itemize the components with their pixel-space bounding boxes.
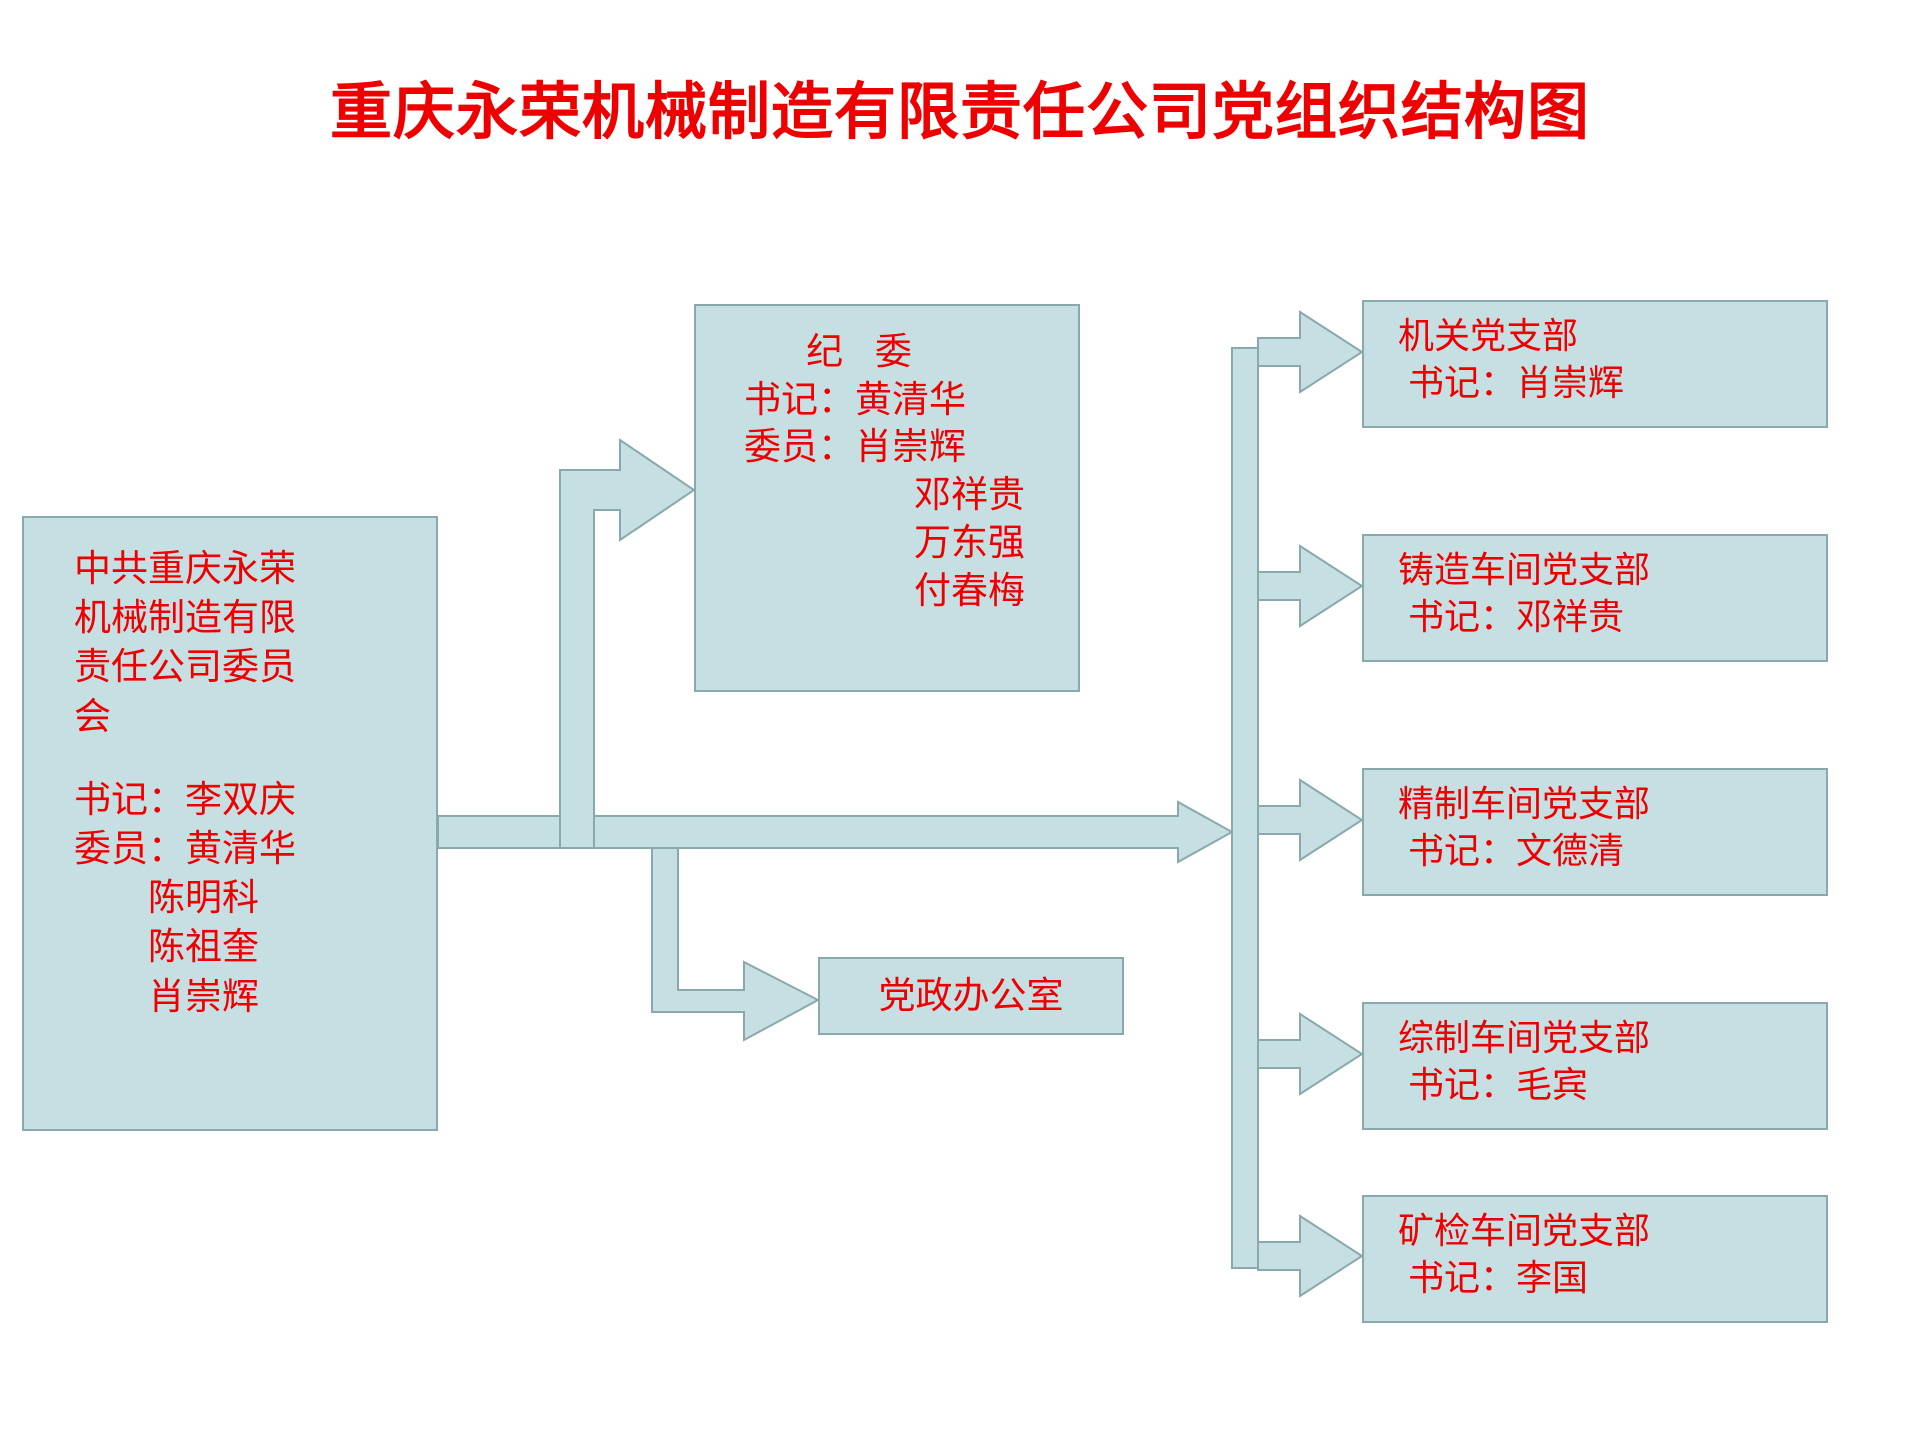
branch-3-name: 综制车间党支部 (1398, 1016, 1826, 1063)
branch-2-name: 精制车间党支部 (1398, 782, 1826, 829)
branch-2-secretary-row: 书记：文德清 (1398, 829, 1826, 876)
discipline-member-3: 付春梅 (696, 567, 1078, 615)
connector-branch-arrow-0 (1258, 312, 1362, 392)
root-spacer (74, 741, 436, 775)
office-label: 党政办公室 (879, 972, 1064, 1019)
node-party-committee[interactable]: 中共重庆永荣 机械制造有限 责任公司委员 会 书记：李双庆 委员：黄清华 陈明科… (22, 516, 438, 1131)
root-member-3: 肖崇辉 (74, 972, 436, 1021)
branch-4-secretary-row: 书记：李国 (1398, 1256, 1826, 1303)
discipline-members-row: 委员：肖崇辉 (696, 423, 1078, 471)
root-secretary-label: 书记： (74, 778, 185, 821)
node-branch-foundry[interactable]: 铸造车间党支部 书记：邓祥贵 (1362, 534, 1828, 662)
node-branch-agency[interactable]: 机关党支部 书记：肖崇辉 (1362, 300, 1828, 428)
discipline-members-label: 委员： (744, 425, 855, 468)
discipline-member-2: 万东强 (696, 519, 1078, 567)
connector-branch-arrow-4 (1258, 1216, 1362, 1296)
node-branch-comprehensive[interactable]: 综制车间党支部 书记：毛宾 (1362, 1002, 1828, 1130)
connector-root-to-trunk (438, 802, 1232, 862)
branch-1-name: 铸造车间党支部 (1398, 548, 1826, 595)
branch-3-secretary-row: 书记：毛宾 (1398, 1063, 1826, 1110)
root-name-line-2: 机械制造有限 (74, 593, 436, 642)
connector-branch-arrow-2 (1258, 780, 1362, 860)
branch-1-secretary-label: 书记： (1408, 597, 1516, 638)
root-member-0: 黄清华 (185, 827, 296, 870)
discipline-secretary-name: 黄清华 (855, 378, 966, 421)
branch-4-secretary-name: 李国 (1516, 1258, 1588, 1299)
connector-branch-arrow-3 (1258, 1014, 1362, 1094)
node-party-government-office[interactable]: 党政办公室 (818, 957, 1124, 1035)
discipline-secretary-label: 书记： (744, 378, 855, 421)
node-branch-ore-inspection[interactable]: 矿检车间党支部 书记：李国 (1362, 1195, 1828, 1323)
branch-4-name: 矿检车间党支部 (1398, 1209, 1826, 1256)
node-branch-refining[interactable]: 精制车间党支部 书记：文德清 (1362, 768, 1828, 896)
connector-root-to-discipline (560, 440, 694, 848)
root-member-2: 陈祖奎 (74, 922, 436, 971)
branch-0-secretary-name: 肖崇辉 (1516, 363, 1624, 404)
branch-0-name: 机关党支部 (1398, 314, 1826, 361)
branch-3-secretary-label: 书记： (1408, 1065, 1516, 1106)
root-secretary-name: 李双庆 (185, 778, 296, 821)
branch-1-secretary-row: 书记：邓祥贵 (1398, 595, 1826, 642)
root-member-1: 陈明科 (74, 873, 436, 922)
root-members-row: 委员：黄清华 (74, 824, 436, 873)
discipline-heading: 纪 委 (696, 328, 1078, 376)
branch-1-secretary-name: 邓祥贵 (1516, 597, 1624, 638)
root-secretary-row: 书记：李双庆 (74, 775, 436, 824)
node-discipline-commission[interactable]: 纪 委 书记：黄清华 委员：肖崇辉 邓祥贵 万东强 付春梅 (694, 304, 1080, 692)
discipline-member-1: 邓祥贵 (696, 471, 1078, 519)
branch-0-secretary-label: 书记： (1408, 363, 1516, 404)
discipline-secretary-row: 书记：黄清华 (696, 376, 1078, 424)
connector-branch-arrow-1 (1258, 546, 1362, 626)
root-name-line-4: 会 (74, 692, 436, 741)
connector-branch-riser (1232, 348, 1258, 1268)
connector-root-to-office (652, 848, 818, 1040)
branch-0-secretary-row: 书记：肖崇辉 (1398, 361, 1826, 408)
branch-4-secretary-label: 书记： (1408, 1258, 1516, 1299)
branch-2-secretary-label: 书记： (1408, 831, 1516, 872)
branch-2-secretary-name: 文德清 (1516, 831, 1624, 872)
root-members-label: 委员： (74, 827, 185, 870)
discipline-member-0: 肖崇辉 (855, 425, 966, 468)
root-name-line-1: 中共重庆永荣 (74, 544, 436, 593)
org-chart-canvas: 重庆永荣机械制造有限责任公司党组织结构图 (0, 0, 1920, 1440)
branch-3-secretary-name: 毛宾 (1516, 1065, 1588, 1106)
root-name-line-3: 责任公司委员 (74, 642, 436, 691)
